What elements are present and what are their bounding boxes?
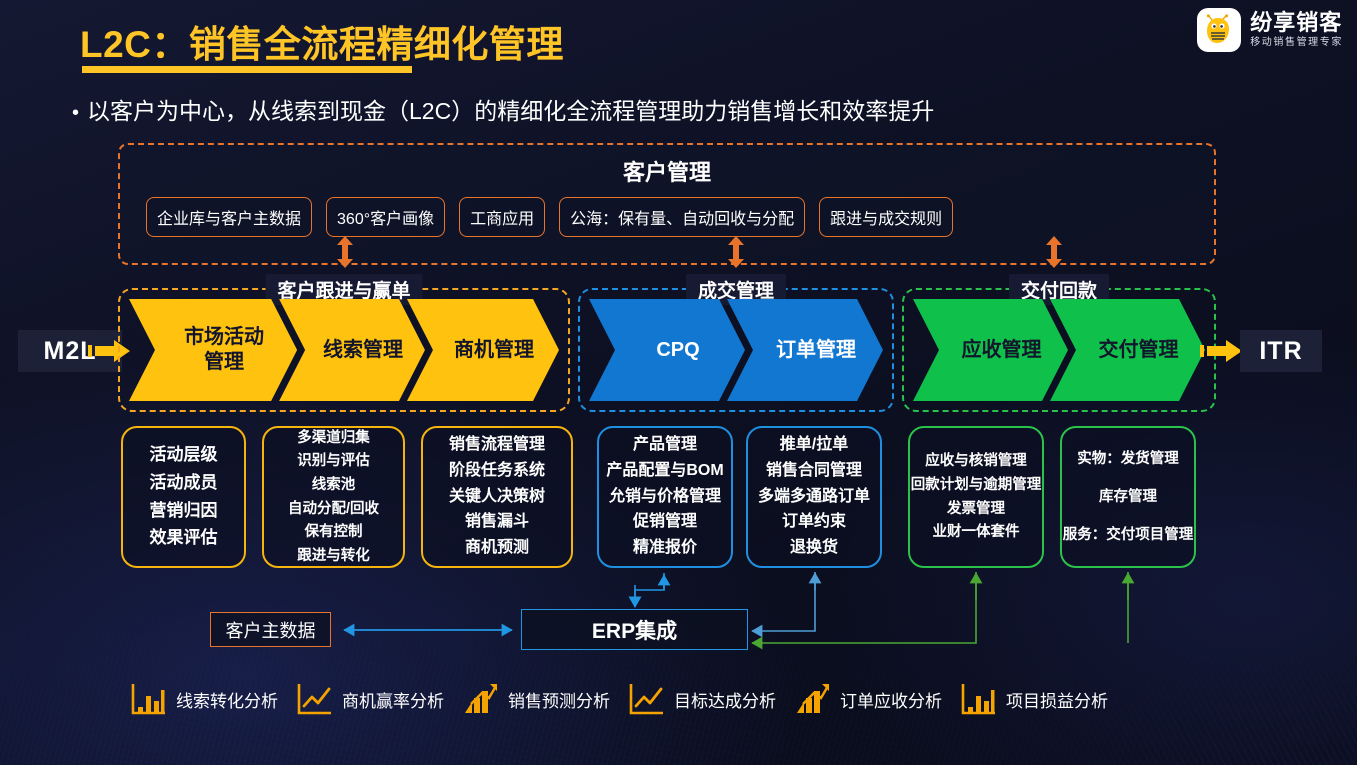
double-arrow-icon-delivery — [1045, 236, 1063, 268]
detail-item: 活动层级 — [150, 443, 218, 468]
analytics-label: 订单应收分析 — [840, 687, 942, 712]
detail-item: 业财一体套件 — [933, 522, 1020, 543]
stage-group-deal: 成交管理 CPQ 订单管理 — [578, 288, 894, 412]
analytics-item-2[interactable]: 销售预测分析 — [462, 682, 610, 716]
chevron-lead-management[interactable]: 线索管理 — [279, 299, 425, 401]
detail-box-order[interactable]: 推单/拉单 销售合同管理 多端多通路订单 订单约束 退换货 — [746, 426, 882, 568]
detail-box-marketing[interactable]: 活动层级 活动成员 营销归因 效果评估 — [121, 426, 246, 568]
detail-item: 退换货 — [790, 537, 838, 560]
analytics-row: 线索转化分析 商机赢率分析 销售预测分析 目标达成分析 — [130, 682, 1108, 716]
chevron-order-management[interactable]: 订单管理 — [727, 299, 883, 401]
analytics-item-4[interactable]: 订单应收分析 — [794, 682, 942, 716]
itr-badge: ITR — [1240, 330, 1322, 372]
detail-item: 库存管理 — [1099, 487, 1157, 508]
detail-item: 精准报价 — [633, 537, 697, 560]
cust-box-0[interactable]: 企业库与客户主数据 — [146, 197, 312, 237]
detail-item: 实物：发货管理 — [1077, 449, 1179, 470]
analytics-item-0[interactable]: 线索转化分析 — [130, 682, 278, 716]
detail-item: 商机预测 — [465, 537, 529, 560]
slide-canvas: L2C：销售全流程精细化管理 •以客户为中心，从线索到现金（L2C）的精细化全流… — [0, 0, 1357, 765]
analytics-label: 目标达成分析 — [674, 687, 776, 712]
chevron-row-delivery: 应收管理 交付管理 — [913, 299, 1205, 401]
detail-item: 跟进与转化 — [297, 546, 370, 567]
subtitle-line: •以客户为中心，从线索到现金（L2C）的精细化全流程管理助力销售增长和效率提升 — [72, 92, 934, 126]
detail-item: 促销管理 — [633, 511, 697, 534]
customer-management-box-row: 企业库与客户主数据 360°客户画像 工商应用 公海：保有量、自动回收与分配 跟… — [146, 197, 1188, 237]
chevron-label: 交付管理 — [1099, 338, 1179, 363]
detail-item: 销售漏斗 — [465, 511, 529, 534]
detail-item: 允销与价格管理 — [609, 486, 721, 509]
chevron-row-deal: CPQ 订单管理 — [589, 299, 883, 401]
detail-box-receivable[interactable]: 应收与核销管理 回款计划与逾期管理 发票管理 业财一体套件 — [908, 426, 1044, 568]
chevron-label: 应收管理 — [962, 338, 1042, 363]
bullet-glyph: • — [72, 102, 79, 124]
detail-box-lead[interactable]: 多渠道归集 识别与评估 线索池 自动分配/回收 保有控制 跟进与转化 — [262, 426, 405, 568]
detail-item: 销售流程管理 — [449, 434, 545, 457]
detail-box-delivery[interactable]: 实物：发货管理 库存管理 服务：交付项目管理 — [1060, 426, 1196, 568]
growth-chart-icon — [462, 682, 500, 716]
chevron-line-0: 市场活动 — [184, 326, 264, 348]
stage-group-lead: 客户跟进与赢单 市场活动 管理 线索管理 商机管理 — [118, 288, 570, 412]
bee-mascot-icon — [1205, 15, 1233, 45]
logo-tagline: 移动销售管理专家 — [1250, 38, 1343, 49]
analytics-label: 销售预测分析 — [508, 687, 610, 712]
logo-badge — [1197, 8, 1241, 52]
brand-logo: 纷享销客 移动销售管理专家 — [1197, 8, 1343, 52]
detail-item: 推单/拉单 — [780, 434, 848, 457]
analytics-label: 商机赢率分析 — [342, 687, 444, 712]
detail-item: 多渠道归集 — [297, 428, 370, 449]
detail-item: 活动成员 — [150, 471, 218, 496]
chevron-label: 订单管理 — [776, 338, 856, 363]
cust-box-1[interactable]: 360°客户画像 — [326, 197, 445, 237]
stage-group-delivery: 交付回款 应收管理 交付管理 — [902, 288, 1216, 412]
analytics-label: 项目损益分析 — [1006, 687, 1108, 712]
detail-item: 线索池 — [312, 475, 356, 496]
analytics-item-5[interactable]: 项目损益分析 — [960, 682, 1108, 716]
detail-item: 多端多通路订单 — [758, 486, 870, 509]
chevron-opportunity-management[interactable]: 商机管理 — [407, 299, 559, 401]
line-chart-icon — [628, 682, 666, 716]
flow-arrow-out-icon — [1200, 338, 1244, 364]
analytics-item-1[interactable]: 商机赢率分析 — [296, 682, 444, 716]
analytics-item-3[interactable]: 目标达成分析 — [628, 682, 776, 716]
growth-chart-icon — [794, 682, 832, 716]
chevron-row-lead: 市场活动 管理 线索管理 商机管理 — [129, 299, 559, 401]
chevron-delivery-management[interactable]: 交付管理 — [1050, 299, 1205, 401]
chevron-market-activity[interactable]: 市场活动 管理 — [129, 299, 297, 401]
chevron-label: CPQ — [656, 338, 699, 363]
detail-box-product[interactable]: 产品管理 产品配置与BOM 允销与价格管理 促销管理 精准报价 — [597, 426, 733, 568]
detail-item: 服务：交付项目管理 — [1063, 525, 1194, 546]
detail-item: 营销归因 — [150, 499, 218, 524]
bar-chart-icon — [130, 682, 168, 716]
chevron-label: 线索管理 — [323, 338, 403, 363]
cust-box-3[interactable]: 公海：保有量、自动回收与分配 — [559, 197, 805, 237]
erp-integration-box[interactable]: ERP集成 — [521, 609, 748, 650]
detail-item: 应收与核销管理 — [925, 451, 1027, 472]
detail-box-opportunity[interactable]: 销售流程管理 阶段任务系统 关键人决策树 销售漏斗 商机预测 — [421, 426, 573, 568]
customer-master-data-box[interactable]: 客户主数据 — [210, 612, 331, 647]
page-title: L2C：销售全流程精细化管理 — [80, 14, 564, 68]
detail-item: 发票管理 — [947, 499, 1005, 520]
chevron-receivable-management[interactable]: 应收管理 — [913, 299, 1068, 401]
double-arrow-icon-lead — [336, 236, 354, 268]
detail-item: 效果评估 — [150, 526, 218, 551]
detail-item: 产品管理 — [633, 434, 697, 457]
chevron-label: 商机管理 — [454, 338, 534, 363]
detail-item: 回款计划与逾期管理 — [911, 475, 1042, 496]
detail-item: 订单约束 — [782, 511, 846, 534]
subtitle-text: 以客户为中心，从线索到现金（L2C）的精细化全流程管理助力销售增长和效率提升 — [87, 98, 934, 124]
detail-item: 自动分配/回收 — [288, 499, 379, 520]
chevron-cpq[interactable]: CPQ — [589, 299, 745, 401]
title-underline — [82, 66, 412, 73]
detail-item: 关键人决策树 — [449, 486, 545, 509]
detail-item: 识别与评估 — [297, 451, 370, 472]
double-arrow-icon-deal — [727, 236, 745, 268]
bar-chart-icon — [960, 682, 998, 716]
detail-item: 保有控制 — [305, 522, 363, 543]
customer-management-title: 客户管理 — [120, 155, 1214, 187]
chevron-line-1: 管理 — [204, 351, 244, 373]
cust-box-4[interactable]: 跟进与成交规则 — [819, 197, 953, 237]
line-chart-icon — [296, 682, 334, 716]
detail-item: 产品配置与BOM — [606, 460, 723, 483]
detail-item: 阶段任务系统 — [449, 460, 545, 483]
logo-name: 纷享销客 — [1250, 11, 1343, 35]
analytics-label: 线索转化分析 — [176, 687, 278, 712]
detail-item: 销售合同管理 — [766, 460, 862, 483]
cust-box-2[interactable]: 工商应用 — [459, 197, 545, 237]
